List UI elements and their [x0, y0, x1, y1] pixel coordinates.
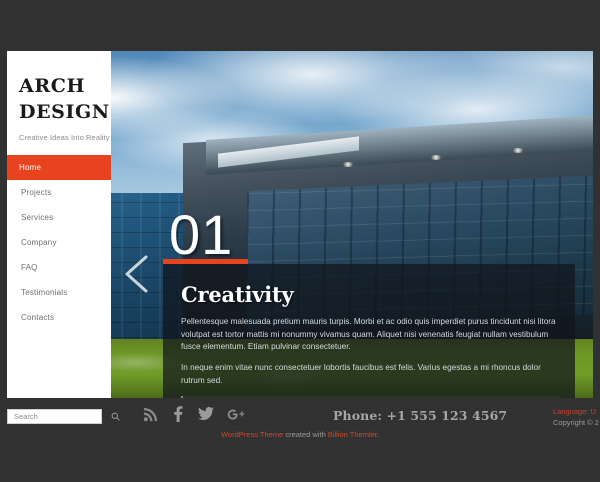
- chevron-left-icon[interactable]: [120, 253, 154, 295]
- search-box[interactable]: [7, 409, 102, 424]
- sidebar: ARCH DESIGN Creative Ideas Into Reality …: [7, 51, 111, 398]
- slide-paragraph-2: In neque enim vitae nunc consectetuer lo…: [181, 362, 561, 387]
- main-navigation: Home Projects Services Company FAQ Testi…: [7, 155, 111, 330]
- slide-number: 01: [169, 207, 233, 263]
- footer: Phone: +1 555 123 4567 Language: U Copyr…: [0, 398, 600, 482]
- sidebar-item-testimonials[interactable]: Testimonials: [7, 280, 111, 305]
- brand-line-2: DESIGN: [19, 100, 111, 126]
- theme-credit-end: .: [377, 430, 379, 439]
- site-tagline: Creative Ideas Into Reality: [7, 125, 111, 142]
- slide-blockquote: Donec sed tellus eget sapien fringilla n…: [181, 396, 561, 398]
- footer-right-column: Language: U Copyright © 2: [553, 407, 600, 429]
- twitter-icon[interactable]: [198, 407, 214, 425]
- sidebar-item-contacts[interactable]: Contacts: [7, 305, 111, 330]
- magnifier-icon[interactable]: [111, 412, 120, 421]
- sidebar-item-company[interactable]: Company: [7, 230, 111, 255]
- sidebar-item-faq[interactable]: FAQ: [7, 255, 111, 280]
- social-links: [143, 406, 245, 426]
- theme-credit-link-theme[interactable]: WordPress Theme: [221, 430, 283, 439]
- theme-credit-link-author[interactable]: Billion Themler: [328, 430, 377, 439]
- page-frame: 01 Creativity Pellentesque malesuada pre…: [0, 0, 600, 482]
- facebook-icon[interactable]: [171, 406, 185, 426]
- sidebar-item-home[interactable]: Home: [7, 155, 111, 180]
- theme-credit: WordPress Theme created with Billion The…: [0, 430, 600, 439]
- google-plus-icon[interactable]: [227, 407, 245, 425]
- rss-icon[interactable]: [143, 407, 158, 426]
- copyright-text: Copyright © 2: [553, 418, 600, 429]
- sidebar-item-projects[interactable]: Projects: [7, 180, 111, 205]
- phone-number: Phone: +1 555 123 4567: [333, 408, 507, 423]
- site-logo[interactable]: ARCH DESIGN: [7, 74, 111, 125]
- slide-content-panel: Creativity Pellentesque malesuada pretiu…: [163, 264, 575, 398]
- brand-line-1: ARCH: [19, 74, 111, 100]
- slide-paragraph-1: Pellentesque malesuada pretium mauris tu…: [181, 316, 561, 354]
- language-selector[interactable]: Language: U: [553, 407, 600, 418]
- theme-credit-middle: created with: [283, 430, 328, 439]
- search-input[interactable]: [8, 412, 111, 421]
- slide-title: Creativity: [181, 282, 561, 307]
- sidebar-item-services[interactable]: Services: [7, 205, 111, 230]
